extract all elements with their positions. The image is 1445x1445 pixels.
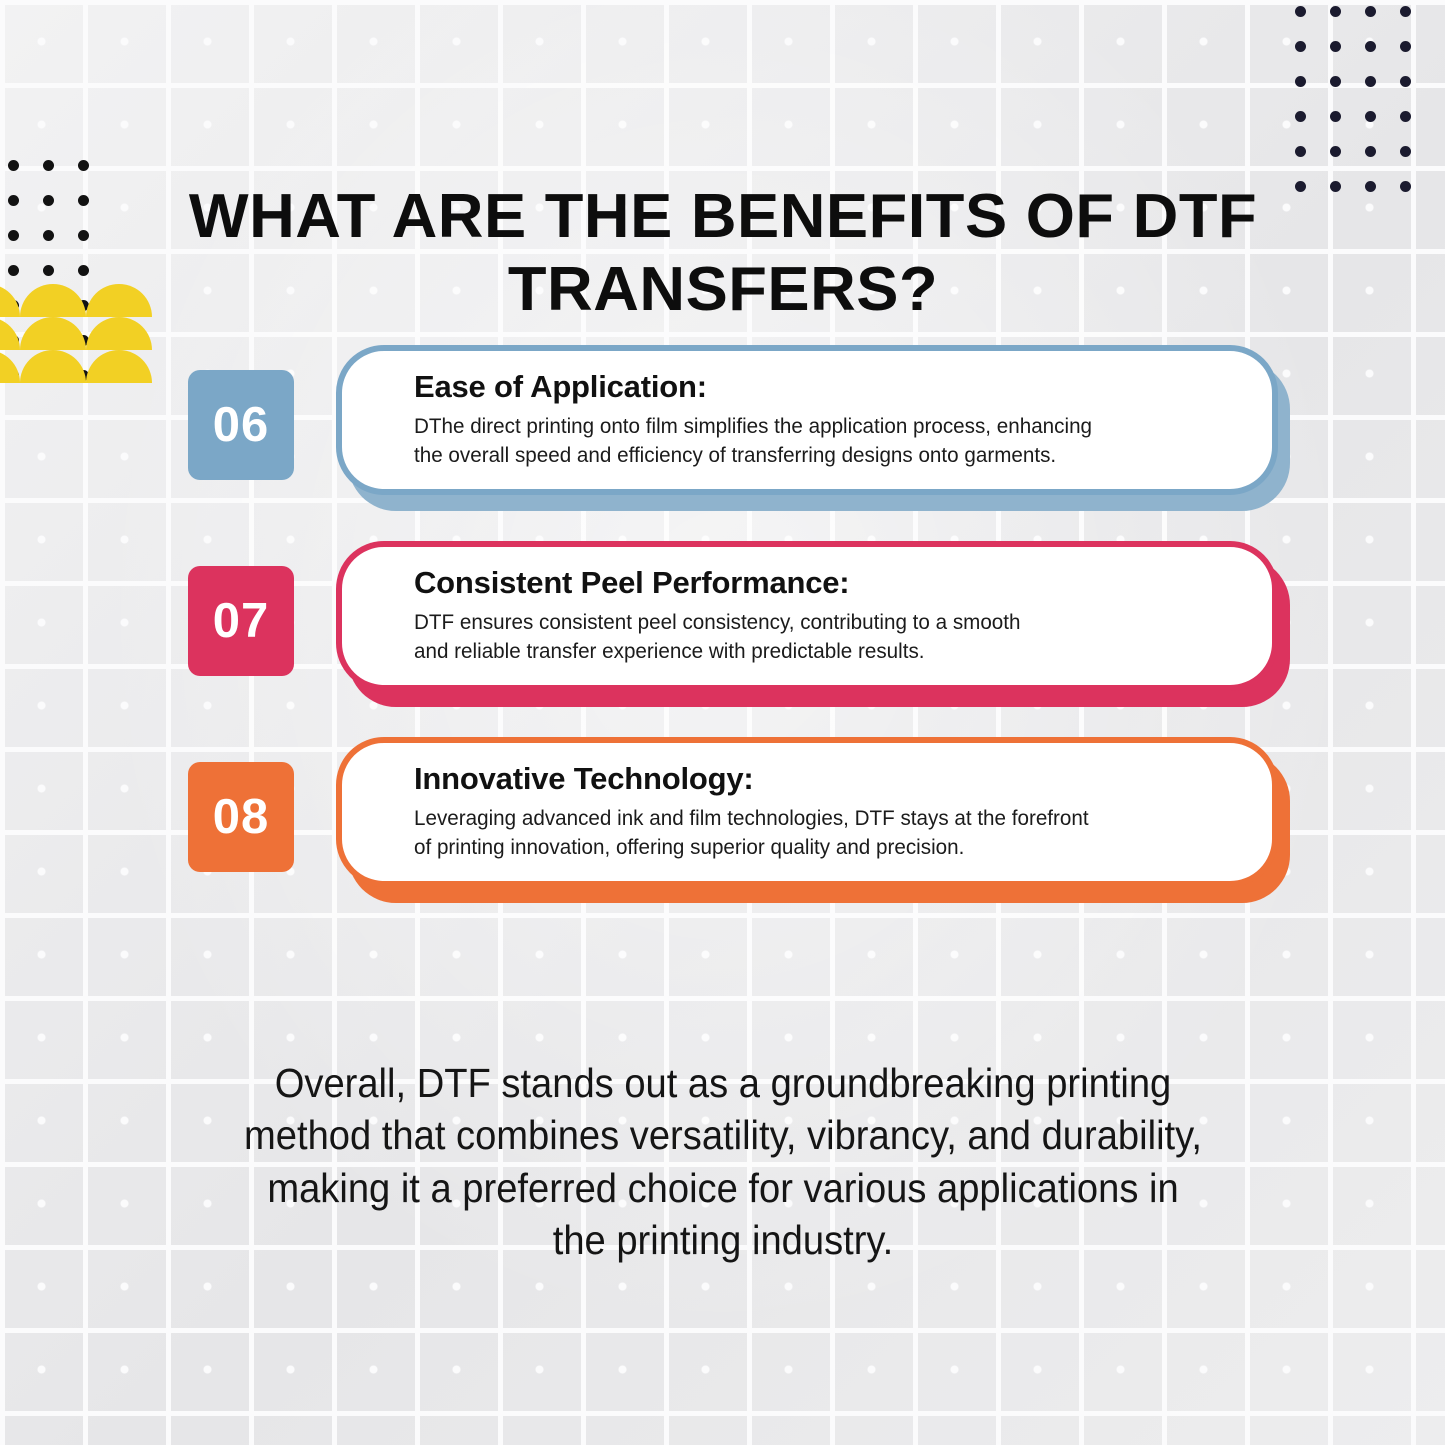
card-bubble-wrapper: Consistent Peel Performance:DTF ensures … <box>336 541 1278 691</box>
decorative-dot <box>1295 146 1306 157</box>
card-bubble-wrapper: Ease of Application:DThe direct printing… <box>336 345 1278 495</box>
decorative-semicircle <box>20 317 86 350</box>
decorative-dot <box>1365 6 1376 17</box>
card-title: Ease of Application: <box>414 369 1238 406</box>
benefit-card: 06Ease of Application:DThe direct printi… <box>188 345 1278 495</box>
card-body-text: Leveraging advanced ink and film technol… <box>414 804 1205 863</box>
page-title: WHAT ARE THE BENEFITS OF DTF TRANSFERS? <box>157 180 1289 326</box>
card-bubble: Ease of Application:DThe direct printing… <box>336 345 1278 495</box>
benefit-card-list: 06Ease of Application:DThe direct printi… <box>188 345 1278 933</box>
card-bubble: Consistent Peel Performance:DTF ensures … <box>336 541 1278 691</box>
decorative-dot <box>43 230 54 241</box>
decorative-dot <box>1330 111 1341 122</box>
decorative-dot <box>1330 6 1341 17</box>
card-body-text: DTF ensures consistent peel consistency,… <box>414 608 1205 667</box>
decorative-semicircle <box>0 350 20 383</box>
decorative-dot <box>78 160 89 171</box>
decorative-dot <box>1400 146 1411 157</box>
decorative-dot <box>1295 181 1306 192</box>
decorative-dot <box>43 160 54 171</box>
decorative-semicircle <box>20 350 86 383</box>
decorative-semicircle <box>20 284 86 317</box>
decorative-dot <box>1400 111 1411 122</box>
decorative-dot <box>43 195 54 206</box>
infographic-canvas: WHAT ARE THE BENEFITS OF DTF TRANSFERS? … <box>0 0 1445 1445</box>
decorative-semicircle <box>86 350 152 383</box>
decorative-dot <box>1295 41 1306 52</box>
decorative-dot <box>8 230 19 241</box>
decorative-dot <box>78 230 89 241</box>
decorative-semicircle <box>0 284 20 317</box>
card-title: Innovative Technology: <box>414 761 1238 798</box>
decorative-dot <box>8 265 19 276</box>
card-number-badge: 07 <box>188 566 294 676</box>
decorative-dot <box>1400 41 1411 52</box>
decorative-dot <box>1365 41 1376 52</box>
decorative-dot <box>78 195 89 206</box>
decorative-dot <box>1400 181 1411 192</box>
decorative-semicircle <box>86 284 152 317</box>
decorative-dot <box>1365 111 1376 122</box>
decorative-dot <box>1295 6 1306 17</box>
decorative-dot <box>8 195 19 206</box>
decorative-semicircle <box>0 317 20 350</box>
decorative-dot <box>1295 111 1306 122</box>
decorative-dot <box>1400 6 1411 17</box>
card-bubble-wrapper: Innovative Technology:Leveraging advance… <box>336 737 1278 887</box>
yellow-semicircle-pattern <box>0 284 154 388</box>
benefit-card: 08Innovative Technology:Leveraging advan… <box>188 737 1278 887</box>
benefit-card: 07Consistent Peel Performance:DTF ensure… <box>188 541 1278 691</box>
decorative-dot <box>1295 76 1306 87</box>
decorative-dot <box>1330 181 1341 192</box>
card-number-badge: 08 <box>188 762 294 872</box>
card-bubble: Innovative Technology:Leveraging advance… <box>336 737 1278 887</box>
decorative-dot <box>1400 76 1411 87</box>
decorative-dot <box>1330 76 1341 87</box>
card-number-badge: 06 <box>188 370 294 480</box>
decorative-dot <box>1330 146 1341 157</box>
card-title: Consistent Peel Performance: <box>414 565 1238 602</box>
decorative-dot <box>43 265 54 276</box>
decorative-dot <box>1330 41 1341 52</box>
summary-paragraph: Overall, DTF stands out as a groundbreak… <box>207 1057 1239 1267</box>
decorative-dot <box>78 265 89 276</box>
decorative-semicircle <box>86 317 152 350</box>
decorative-dot <box>8 160 19 171</box>
decorative-dot <box>1365 76 1376 87</box>
decorative-dot <box>1365 181 1376 192</box>
card-body-text: DThe direct printing onto film simplifie… <box>414 412 1205 471</box>
decorative-dot <box>1365 146 1376 157</box>
dot-grid-top-right <box>1295 6 1431 206</box>
